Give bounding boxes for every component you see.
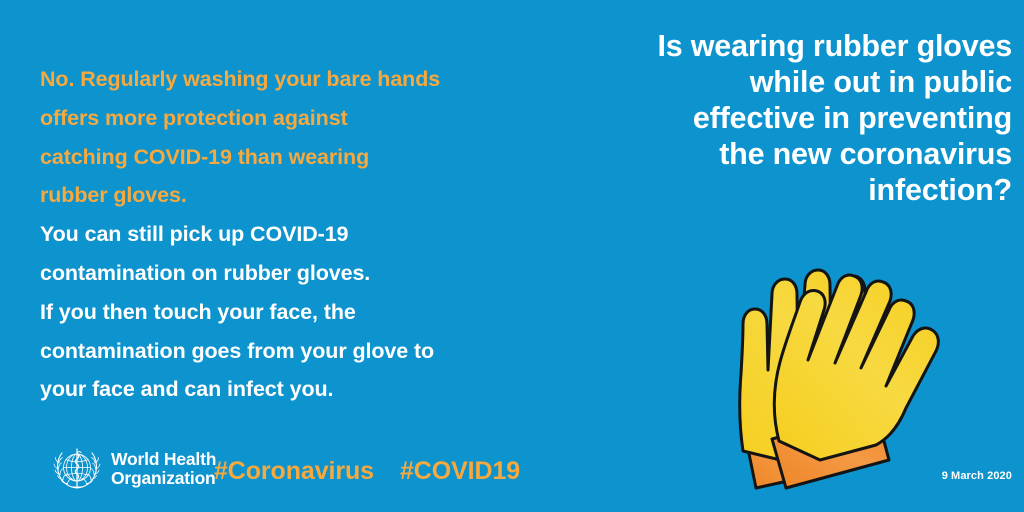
glove-front-hand — [774, 275, 938, 460]
hashtag-covid19[interactable]: #COVID19 — [400, 457, 520, 486]
headline-line-5: infection? — [542, 172, 1012, 208]
who-wordmark-line-1: World Health — [111, 450, 216, 470]
answer-text-block: No. Regularly washing your bare hands of… — [40, 60, 560, 409]
who-emblem-icon — [52, 444, 102, 494]
hashtag-coronavirus[interactable]: #Coronavirus — [214, 457, 374, 486]
answer-detail-line-1: You can still pick up COVID-19 — [40, 215, 560, 254]
answer-emphasis-line-2: offers more protection against — [40, 99, 560, 138]
headline-line-3: effective in preventing — [542, 100, 1012, 136]
answer-detail-line-3: If you then touch your face, the — [40, 293, 560, 332]
answer-emphasis-line-4: rubber gloves. — [40, 176, 560, 215]
headline-line-2: while out in public — [542, 64, 1012, 100]
answer-detail-line-4: contamination goes from your glove to — [40, 332, 560, 371]
who-covid-myth-buster-poster: Is wearing rubber gloves while out in pu… — [0, 0, 1024, 512]
date-stamp: 9 March 2020 — [942, 470, 1012, 482]
headline-question: Is wearing rubber gloves while out in pu… — [542, 28, 1012, 208]
answer-detail-line-5: your face and can infect you. — [40, 370, 560, 409]
rubber-gloves-illustration — [700, 248, 1000, 498]
answer-detail-line-2: contamination on rubber gloves. — [40, 254, 560, 293]
who-wordmark: World Health Organization — [111, 450, 216, 489]
hashtag-group: #Coronavirus #COVID19 — [214, 457, 520, 486]
who-logo: World Health Organization — [52, 444, 216, 494]
answer-emphasis-line-1: No. Regularly washing your bare hands — [40, 60, 560, 99]
glove-front — [772, 275, 938, 488]
answer-emphasis-line-3: catching COVID-19 than wearing — [40, 138, 560, 177]
headline-line-1: Is wearing rubber gloves — [542, 28, 1012, 64]
who-wordmark-line-2: Organization — [111, 469, 216, 489]
headline-line-4: the new coronavirus — [542, 136, 1012, 172]
rubber-gloves-graphic — [700, 248, 1000, 498]
